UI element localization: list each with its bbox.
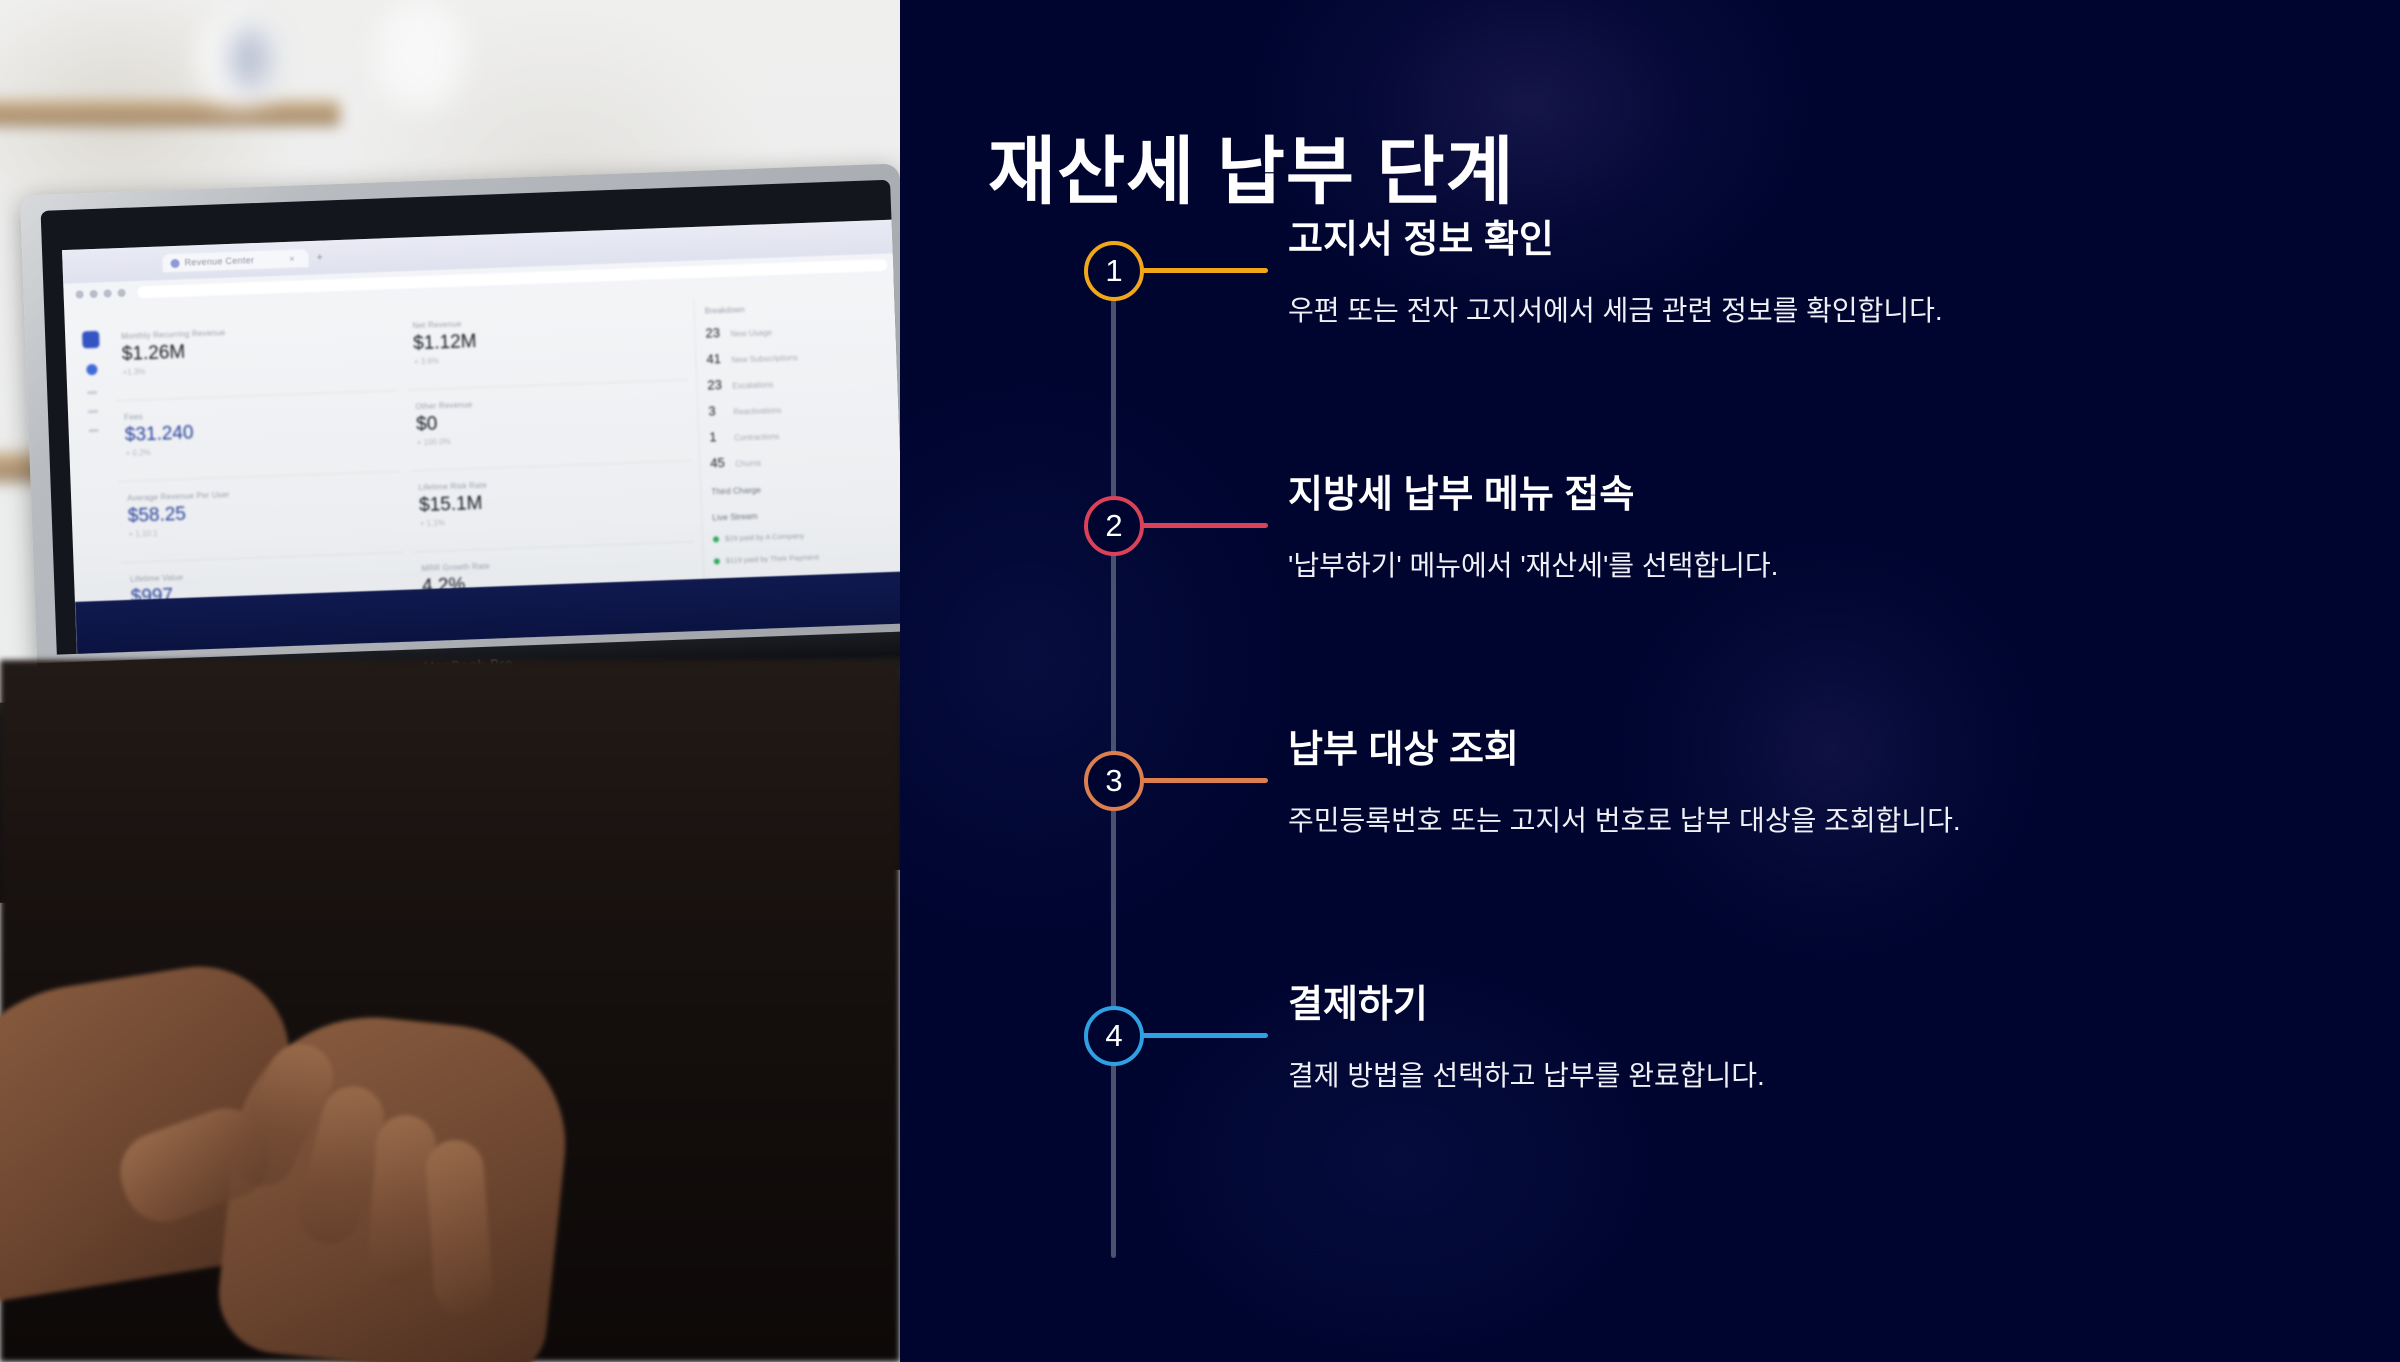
breakdown-count: 45 <box>710 455 729 471</box>
breakdown-label: Contractions <box>734 432 779 443</box>
timeline: 1 고지서 정보 확인 우편 또는 전자 고지서에서 세금 관련 정보를 확인합… <box>900 0 2400 1362</box>
status-dot-icon <box>714 558 720 564</box>
kpi-card: Other Revenue $0 + 100.0% <box>407 386 691 471</box>
app-logo-icon <box>82 331 100 349</box>
step-title: 고지서 정보 확인 <box>1288 217 2288 265</box>
step-connector-3 <box>1140 778 1268 783</box>
browser-tab: Revenue Center × <box>162 249 309 272</box>
settings-nav-icon <box>89 429 99 432</box>
forward-arrow-icon <box>90 290 98 298</box>
breakdown-title: Breakdown <box>705 300 891 316</box>
breakdown-row: 45 Churns <box>710 449 896 471</box>
step-number: 4 <box>1105 1020 1122 1051</box>
step-title: 결제하기 <box>1288 982 2288 1030</box>
finger <box>424 1138 494 1317</box>
live-stream-text: $119 paid by Their Payment <box>726 553 819 565</box>
step-body-1: 고지서 정보 확인 우편 또는 전자 고지서에서 세금 관련 정보를 확인합니다… <box>1288 217 2288 330</box>
live-stream-text: $29 paid by A Company <box>725 531 805 543</box>
back-arrow-icon <box>76 290 84 298</box>
footer-percent: 51.0% <box>310 578 347 594</box>
home-icon <box>117 289 125 297</box>
step-marker-2[interactable]: 2 <box>1084 496 1144 556</box>
dashboard-sidebar <box>75 321 117 646</box>
decor-blur-3 <box>375 0 465 110</box>
laptop-photo: Revenue Center × + <box>0 0 900 1362</box>
breakdown-label: Churns <box>735 459 761 469</box>
laptop-bezel: Revenue Center × + <box>41 180 900 655</box>
kpi-card: Lifetime Risk Rate $15.1M + 1.1% <box>410 467 694 552</box>
step-body-2: 지방세 납부 메뉴 접속 '납부하기' 메뉴에서 '재산세'를 선택합니다. <box>1288 472 2288 585</box>
status-dot-icon <box>713 536 719 542</box>
kpi-card: Net Revenue $1.12M + 3.6% <box>404 305 688 390</box>
breakdown-row: 1 Contractions <box>709 423 895 445</box>
slide-root: Revenue Center × + <box>0 0 2400 1362</box>
chart-nav-icon <box>88 410 98 413</box>
step-description: '납부하기' 메뉴에서 '재산세'를 선택합니다. <box>1288 546 2288 585</box>
breakdown-count: 41 <box>706 351 725 367</box>
step-title: 납부 대상 조회 <box>1288 727 2288 775</box>
breakdown-label: New Usage <box>730 328 772 339</box>
browser-tab-title: Revenue Center <box>184 255 254 268</box>
feed-title: Third Charge <box>711 480 897 497</box>
breakdown-row: 41 New Subscriptions <box>706 345 892 367</box>
breakdown-label: Escalations <box>732 380 773 390</box>
reload-icon <box>103 289 111 297</box>
close-icon: × <box>289 254 295 264</box>
step-marker-4[interactable]: 4 <box>1084 1006 1144 1066</box>
shelf-top <box>0 100 340 126</box>
step-title: 지방세 납부 메뉴 접속 <box>1288 472 2288 520</box>
breakdown-label: New Subscriptions <box>731 353 798 364</box>
live-stream-row: $29 paid by A Company <box>713 528 899 544</box>
step-number: 1 <box>1105 255 1122 286</box>
laptop-lid: Revenue Center × + <box>20 163 900 665</box>
breakdown-count: 23 <box>705 325 724 341</box>
laptop-screen: Revenue Center × + <box>62 219 900 654</box>
favicon-icon <box>170 258 179 267</box>
step-body-4: 결제하기 결제 방법을 선택하고 납부를 완료합니다. <box>1288 982 2288 1095</box>
step-marker-3[interactable]: 3 <box>1084 751 1144 811</box>
step-description: 우편 또는 전자 고지서에서 세금 관련 정보를 확인합니다. <box>1288 291 2288 330</box>
new-tab-icon: + <box>316 252 323 264</box>
decor-blur-2 <box>228 26 272 92</box>
step-number: 3 <box>1105 765 1122 796</box>
list-nav-icon <box>87 391 97 394</box>
breakdown-row: 3 Reactivations <box>708 397 894 419</box>
breakdown-count: 23 <box>707 377 726 393</box>
breakdown-row: 23 Escalations <box>707 371 893 393</box>
breakdown-count: 1 <box>709 429 728 445</box>
live-stream-title: Live Stream <box>712 506 898 523</box>
step-description: 결제 방법을 선택하고 납부를 완료합니다. <box>1288 1056 2288 1095</box>
breakdown-row: 23 New Usage <box>705 319 891 341</box>
step-connector-4 <box>1140 1033 1268 1038</box>
step-connector-1 <box>1140 268 1268 273</box>
breakdown-label: Reactivations <box>733 406 781 417</box>
live-stream-row: $119 paid by Their Payment <box>714 550 900 566</box>
content-pane: 재산세 납부 단계 1 고지서 정보 확인 우편 또는 전자 고지서에서 세금 … <box>900 0 2400 1362</box>
step-marker-1[interactable]: 1 <box>1084 241 1144 301</box>
breakdown-count: 3 <box>708 403 727 419</box>
kpi-card: Fees $31.240 + 0.2% <box>116 397 400 482</box>
kpi-card: Average Revenue Per User $58.25 + 1.10.1 <box>119 478 403 563</box>
kpi-card: Monthly Recurring Revenue $1.26M +1.3% <box>113 316 397 401</box>
step-description: 주민등록번호 또는 고지서 번호로 납부 대상을 조회합니다. <box>1288 801 2288 840</box>
step-connector-2 <box>1140 523 1268 528</box>
home-nav-icon <box>86 364 97 375</box>
step-number: 2 <box>1105 510 1122 541</box>
step-body-3: 납부 대상 조회 주민등록번호 또는 고지서 번호로 납부 대상을 조회합니다. <box>1288 727 2288 840</box>
